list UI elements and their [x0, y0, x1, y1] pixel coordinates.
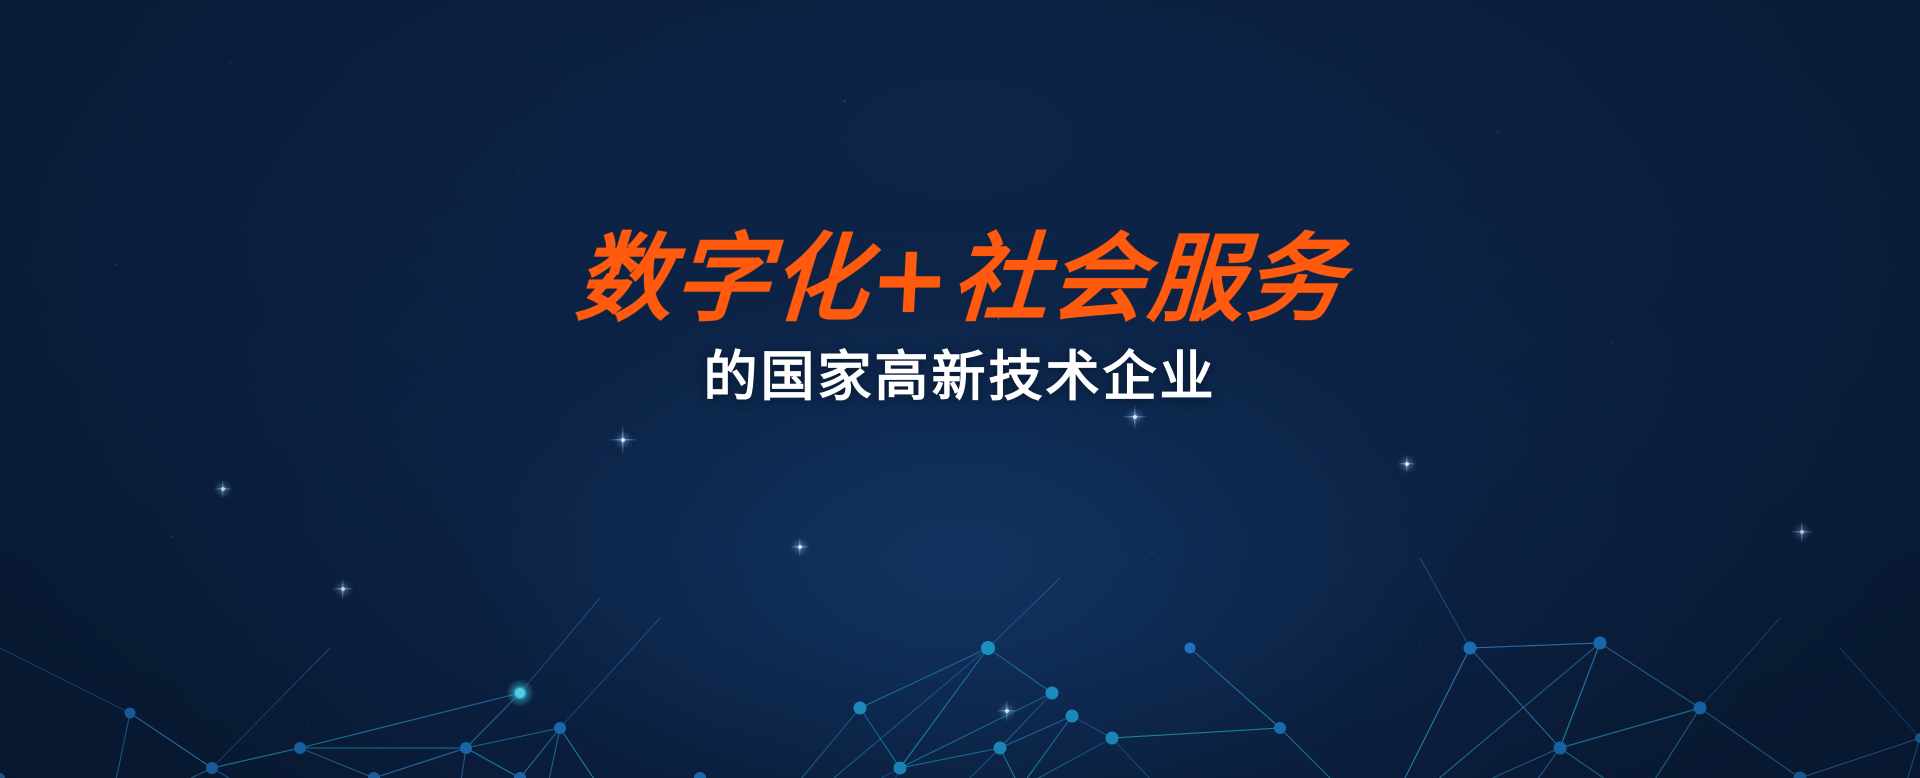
hero-banner: 数字化+社会服务 的国家高新技术企业 [0, 0, 1920, 778]
constellation-network-graphic [0, 348, 1920, 778]
banner-text-block: 数字化+社会服务 的国家高新技术企业 [0, 228, 1920, 408]
banner-subheadline: 的国家高新技术企业 [0, 344, 1920, 409]
banner-headline: 数字化+社会服务 [0, 228, 1920, 332]
